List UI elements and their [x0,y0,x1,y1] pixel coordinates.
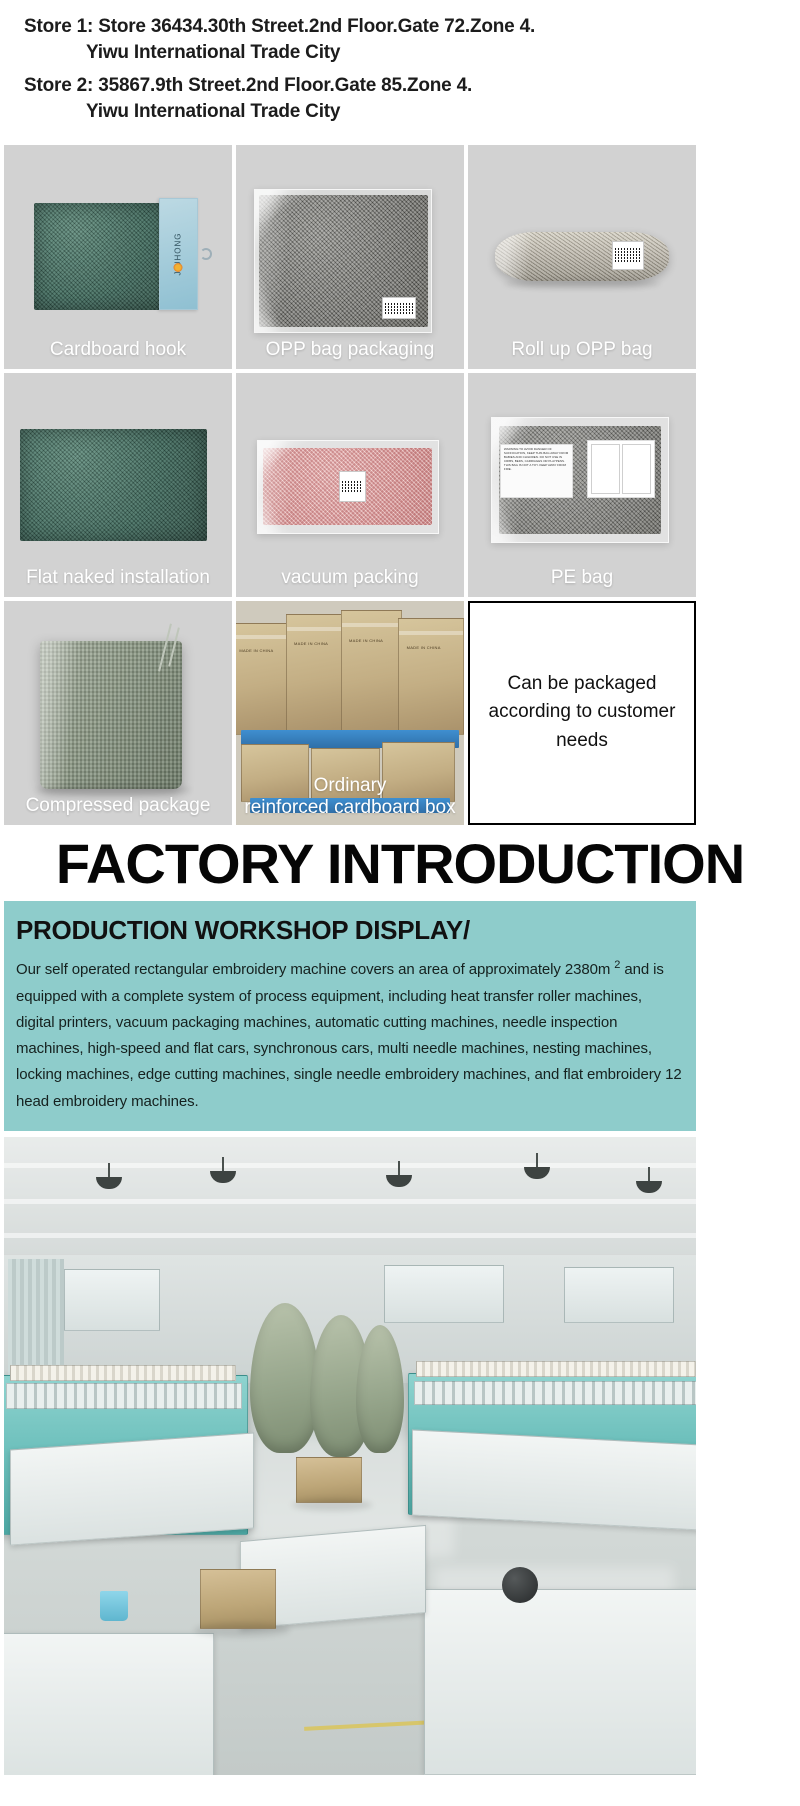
pe-bag-product-swatch [587,440,655,498]
blue-bucket [100,1591,128,1621]
machine-work-table [412,1429,696,1530]
production-workshop-photo [4,1137,696,1775]
packaging-cell-opp-bag-packaging[interactable]: OPP bag packaging [236,145,464,369]
store-address-2-line1: Store 2: 35867.9th Street.2nd Floor.Gate… [24,73,786,99]
workshop-window [64,1269,160,1331]
store-addresses-section: Store 1: Store 36434.30th Street.2nd Flo… [0,0,800,141]
packaging-cell-cardboard-hook[interactable]: JIUHONG Cardboard hook [4,145,232,369]
production-workshop-panel: PRODUCTION WORKSHOP DISPLAY/ Our self op… [4,901,696,1131]
packaging-cell-custom-note: Can be packaged according to customer ne… [468,601,696,825]
factory-introduction-heading: FACTORY INTRODUCTION [0,825,800,902]
flat-naked-installation-photo [4,373,232,597]
description-part-1: Our self operated rectangular embroidery… [16,961,614,978]
packaging-label: Flat naked installation [4,567,232,589]
packaging-label: PE bag [468,567,696,589]
pe-bag-warning-label: WARNING:TO AVOID DANGER OF SUFFOCATION, … [500,444,573,498]
store-address-1-line1: Store 1: Store 36434.30th Street.2nd Flo… [24,14,786,40]
description-part-2: and is equipped with a complete system o… [16,961,682,1109]
opp-bag-photo [236,145,464,369]
dark-fabric-roll [502,1567,538,1603]
workshop-window [564,1267,674,1323]
cardboard-hook-photo: JIUHONG [4,145,232,369]
thread-spool-rack [416,1361,696,1377]
packaging-label: Ordinary reinforced cardboard box [236,775,464,819]
production-workshop-description: Our self operated rectangular embroidery… [16,956,684,1115]
packaging-cell-pe-bag[interactable]: WARNING:TO AVOID DANGER OF SUFFOCATION, … [468,373,696,597]
packaging-label: Compressed package [4,795,232,817]
carton-print: MADE IN CHINA [294,641,328,646]
packaging-label: vacuum packing [236,567,464,589]
store-address-1: Store 1: Store 36434.30th Street.2nd Flo… [0,14,800,65]
packaging-cell-reinforced-cardboard-box[interactable]: MADE IN CHINA MADE IN CHINA MADE IN CHIN… [236,601,464,825]
workshop-window [384,1265,504,1323]
roll-up-opp-bag-photo [468,145,696,369]
carton-print: MADE IN CHINA [407,645,441,650]
store-address-2: Store 2: 35867.9th Street.2nd Floor.Gate… [0,73,800,124]
store-address-2-line2: Yiwu International Trade City [24,99,786,125]
pe-bag-photo: WARNING:TO AVOID DANGER OF SUFFOCATION, … [468,373,696,597]
packaging-label: OPP bag packaging [236,339,464,361]
compressed-package-photo [4,601,232,825]
packaging-cell-roll-up-opp-bag[interactable]: Roll up OPP bag [468,145,696,369]
vacuum-packing-photo [236,373,464,597]
packaging-label: Cardboard hook [4,339,232,361]
packaging-label-line1: Ordinary [238,775,462,797]
store-address-1-line2: Yiwu International Trade City [24,40,786,66]
machine-work-table [10,1432,254,1545]
production-workshop-title: PRODUCTION WORKSHOP DISPLAY/ [16,915,684,946]
carton-print: MADE IN CHINA [239,648,273,653]
packaging-cell-vacuum-packing[interactable]: vacuum packing [236,373,464,597]
hangtag-logo-dot [174,263,183,272]
carton-print: MADE IN CHINA [349,638,383,643]
thread-spool-rack [10,1365,236,1381]
machine-work-table [4,1633,214,1775]
machine-head-rail [6,1383,242,1409]
cardboard-carton [296,1457,362,1503]
packaging-options-grid: JIUHONG Cardboard hook OPP bag packaging [4,145,696,825]
machine-work-table [424,1589,696,1775]
cardboard-carton [200,1569,276,1629]
machine-head-rail [414,1381,696,1405]
custom-packaging-note: Can be packaged according to customer ne… [470,670,694,756]
packaging-label: Roll up OPP bag [468,339,696,361]
packaging-label-line2: reinforced cardboard box [238,797,462,819]
packaging-cell-flat-naked-installation[interactable]: Flat naked installation [4,373,232,597]
packaging-cell-compressed-package[interactable]: Compressed package [4,601,232,825]
